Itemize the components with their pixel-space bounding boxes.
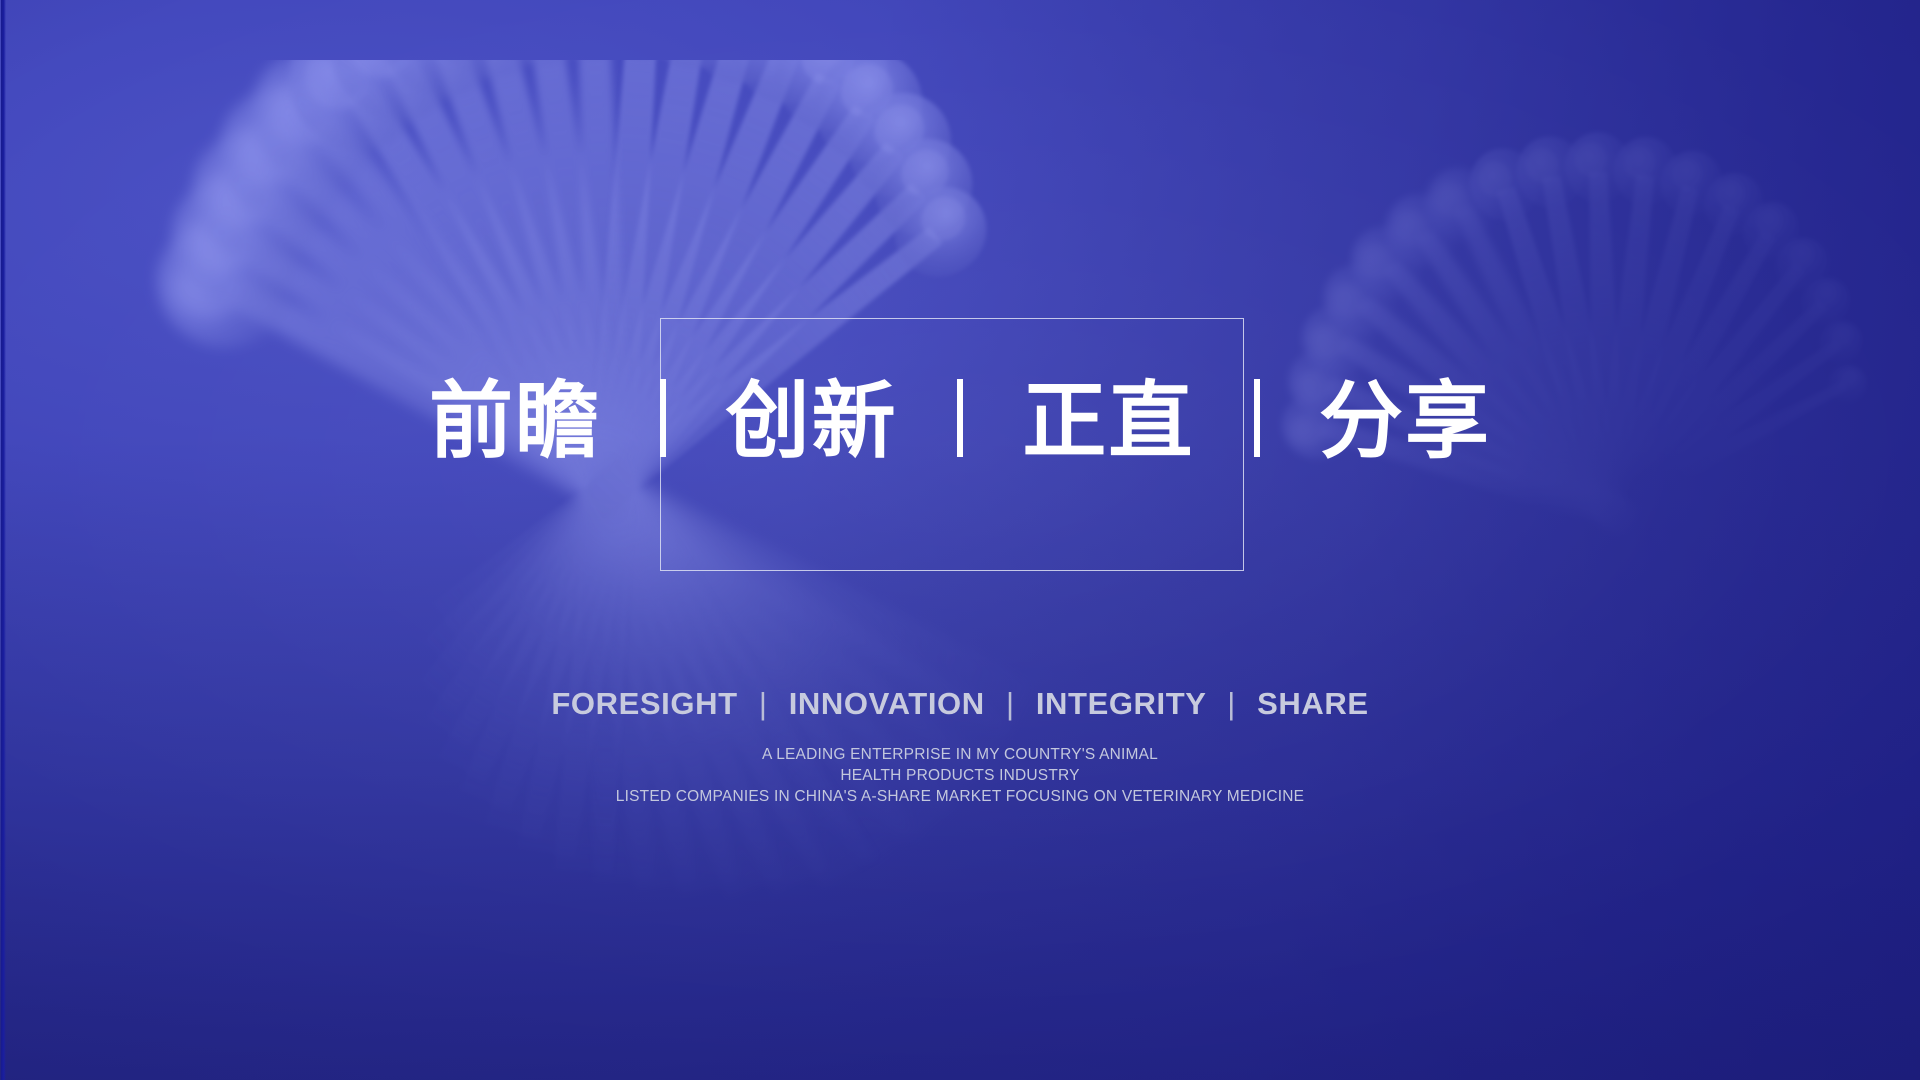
headline-word-share: 分享 xyxy=(1319,379,1491,463)
headline-word-integrity: 正直 xyxy=(1022,379,1194,463)
banner-slide: 前瞻 创新 正直 分享 FORESIGHT | INNOVATION | INT… xyxy=(0,0,1920,1080)
headline-separator-1 xyxy=(660,379,666,457)
company-descriptor: A LEADING ENTERPRISE IN MY COUNTRY'S ANI… xyxy=(0,744,1920,807)
tagline-word-foresight: FORESIGHT xyxy=(551,686,737,721)
tagline-word-share: SHARE xyxy=(1257,686,1369,721)
headline-separator-2 xyxy=(957,379,963,457)
headline-word-innovation: 创新 xyxy=(726,379,898,463)
tagline-word-innovation: INNOVATION xyxy=(789,686,985,721)
headline-separator-3 xyxy=(1254,379,1260,457)
descriptor-line-3: LISTED COMPANIES IN CHINA'S A-SHARE MARK… xyxy=(0,786,1920,807)
headline-values: 前瞻 创新 正直 分享 xyxy=(0,372,1920,463)
tagline-separator-3: | xyxy=(1227,686,1236,722)
tagline-separator-2: | xyxy=(1006,686,1015,722)
tagline-separator-1: | xyxy=(759,686,768,722)
tagline-values-english: FORESIGHT | INNOVATION | INTEGRITY | SHA… xyxy=(0,686,1920,722)
descriptor-line-2: HEALTH PRODUCTS INDUSTRY xyxy=(0,765,1920,786)
headline-word-foresight: 前瞻 xyxy=(429,379,601,463)
left-edge-strip xyxy=(1,0,6,1080)
descriptor-line-1: A LEADING ENTERPRISE IN MY COUNTRY'S ANI… xyxy=(0,744,1920,765)
tagline-word-integrity: INTEGRITY xyxy=(1036,686,1206,721)
